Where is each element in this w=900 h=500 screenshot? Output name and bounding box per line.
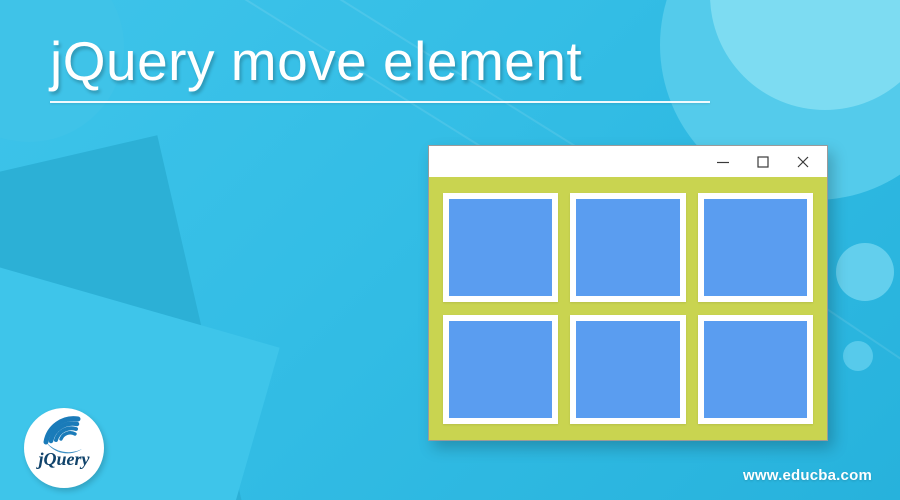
maximize-icon <box>756 155 770 169</box>
draggable-grid[interactable] <box>429 177 827 440</box>
window-titlebar[interactable] <box>429 146 827 177</box>
title-underline <box>50 101 710 103</box>
grid-item-tile[interactable] <box>449 199 552 296</box>
decorative-circle-right-small <box>843 341 873 371</box>
jquery-logo: jQuery <box>24 408 104 488</box>
grid-item[interactable] <box>570 315 685 424</box>
app-window[interactable] <box>428 145 828 441</box>
minimize-icon <box>716 155 730 169</box>
grid-item[interactable] <box>698 315 813 424</box>
window-maximize-button[interactable] <box>743 147 783 176</box>
close-icon <box>796 155 810 169</box>
decorative-circle-right-large <box>836 243 894 301</box>
site-watermark: www.educba.com <box>743 467 872 484</box>
grid-item[interactable] <box>698 193 813 302</box>
slide-canvas: jQuery move element <box>0 0 900 500</box>
grid-item-tile[interactable] <box>576 321 679 418</box>
grid-item-tile[interactable] <box>576 199 679 296</box>
title-block: jQuery move element <box>50 28 730 103</box>
grid-item[interactable] <box>443 193 558 302</box>
page-title: jQuery move element <box>50 28 730 94</box>
jquery-logo-icon: jQuery <box>24 408 104 488</box>
window-minimize-button[interactable] <box>703 147 743 176</box>
grid-item[interactable] <box>443 315 558 424</box>
grid-item-tile[interactable] <box>704 199 807 296</box>
grid-item-tile[interactable] <box>449 321 552 418</box>
grid-item-tile[interactable] <box>704 321 807 418</box>
grid-item[interactable] <box>570 193 685 302</box>
svg-text:jQuery: jQuery <box>36 449 91 469</box>
window-close-button[interactable] <box>783 147 823 176</box>
